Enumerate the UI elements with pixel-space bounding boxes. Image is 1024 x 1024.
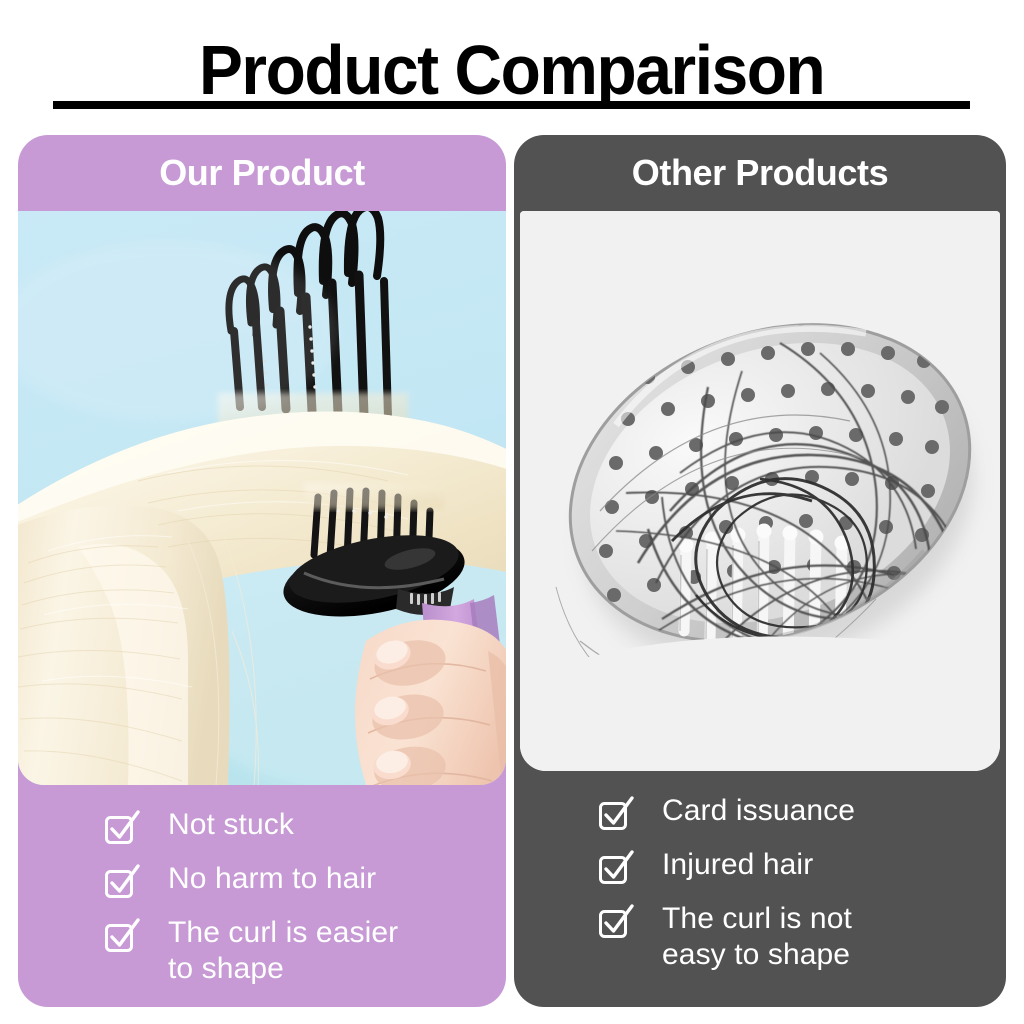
page-title-text: Product Comparison xyxy=(199,34,824,106)
product-comparison-infographic: Product Comparison Our Product xyxy=(0,0,1024,1024)
list-item-label: Not stuck xyxy=(168,807,294,843)
panel-other-products: Other Products xyxy=(514,135,1006,1007)
list-item-label: No harm to hair xyxy=(168,861,376,897)
checkbox-checked-icon xyxy=(104,865,138,899)
checkbox-checked-icon xyxy=(598,905,632,939)
checkbox-checked-icon xyxy=(598,797,632,831)
panel-header-label: Other Products xyxy=(632,152,888,194)
title-underline xyxy=(53,101,970,109)
list-item-label: Injured hair xyxy=(662,847,813,883)
list-item: No harm to hair xyxy=(18,861,506,899)
hand xyxy=(355,620,506,785)
feature-list-other-products: Card issuance Injured hair xyxy=(514,771,1006,973)
list-item: Injured hair xyxy=(514,847,1006,885)
feature-list-our-product: Not stuck No harm to hair xyxy=(18,785,506,987)
list-item: The curl is not easy to shape xyxy=(514,901,1006,973)
our-product-illustration xyxy=(18,211,506,785)
panel-header-other-products: Other Products xyxy=(514,135,1006,211)
page-title: Product Comparison xyxy=(0,34,1024,106)
panel-header-our-product: Our Product xyxy=(18,135,506,211)
list-item-label: The curl is easier to shape xyxy=(168,915,398,987)
checkbox-checked-icon xyxy=(104,811,138,845)
list-item-label: Card issuance xyxy=(662,793,855,829)
list-item-label: The curl is not easy to shape xyxy=(662,901,852,973)
checkbox-checked-icon xyxy=(598,851,632,885)
other-products-illustration xyxy=(520,211,1000,771)
list-item: Card issuance xyxy=(514,793,1006,831)
panel-header-label: Our Product xyxy=(159,152,365,194)
panel-our-product: Our Product xyxy=(18,135,506,1007)
list-item: The curl is easier to shape xyxy=(18,915,506,987)
checkbox-checked-icon xyxy=(104,919,138,953)
list-item: Not stuck xyxy=(18,807,506,845)
photo-other-products xyxy=(520,211,1000,771)
photo-our-product xyxy=(18,211,506,785)
